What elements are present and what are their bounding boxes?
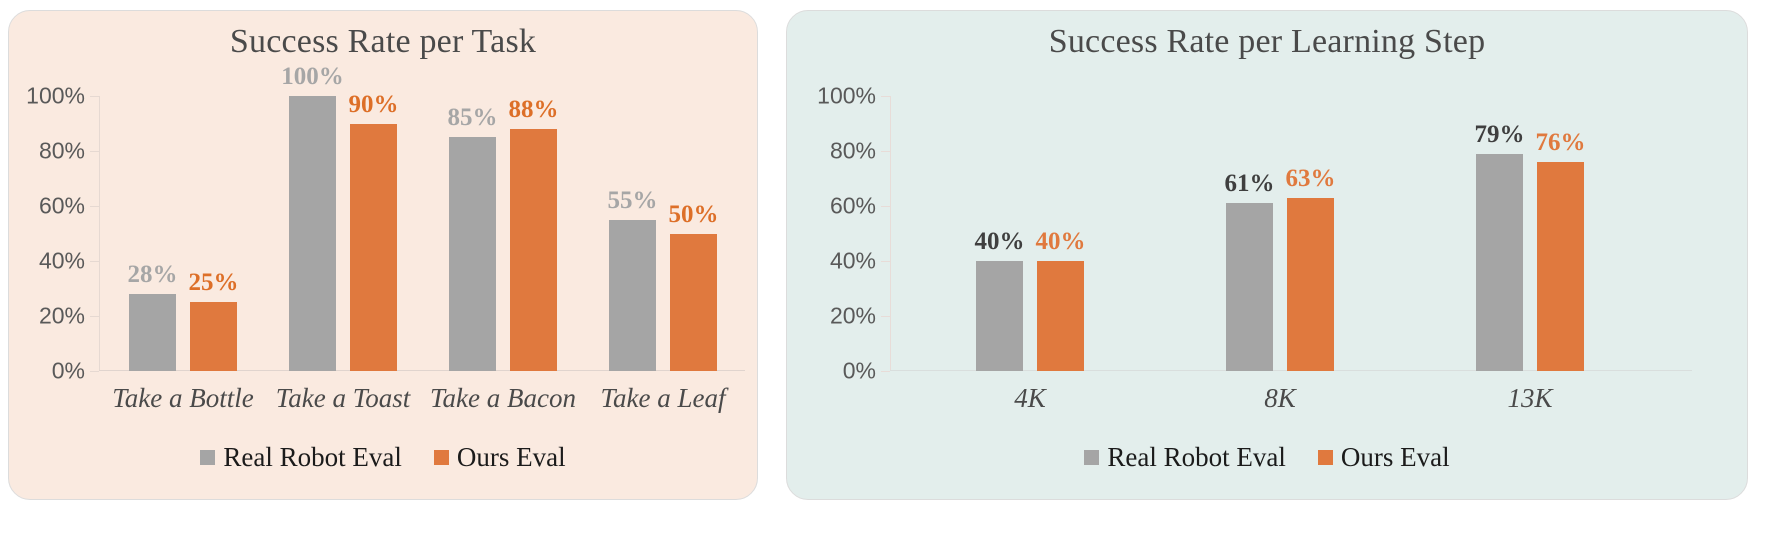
legend-label-real-robot-eval: Real Robot Eval: [223, 442, 401, 473]
figure-container: Success Rate per Task 100%80%60%40%20%0%…: [0, 0, 1774, 550]
bar-value-label: 100%: [281, 63, 344, 91]
y-axis-tick-label: 20%: [39, 303, 85, 330]
legend-label-ours-eval: Ours Eval: [457, 442, 566, 473]
bar-ours-eval: 88%: [510, 129, 557, 371]
bar-value-label: 85%: [448, 104, 498, 132]
y-axis-tick: [881, 261, 890, 262]
bar-ours-eval: 50%: [670, 234, 717, 372]
bar-value-label: 88%: [509, 96, 559, 124]
x-axis-category-label: Take a Bacon: [430, 383, 576, 414]
bar-value-label: 79%: [1475, 121, 1525, 149]
bar-real-robot-eval: 85%: [449, 137, 496, 371]
x-axis-category-label: Take a Bottle: [112, 383, 254, 414]
y-axis-tick: [90, 261, 99, 262]
bar-value-label: 76%: [1536, 129, 1586, 157]
y-axis-tick: [90, 206, 99, 207]
legend-label-real-robot-eval: Real Robot Eval: [1107, 442, 1285, 473]
y-axis-tick: [881, 371, 890, 372]
chart-panel-success-rate-per-task: Success Rate per Task 100%80%60%40%20%0%…: [8, 10, 758, 500]
y-axis-tick: [90, 316, 99, 317]
bar-value-label: 61%: [1225, 170, 1275, 198]
y-axis-tick-label: 80%: [830, 138, 876, 165]
bar-real-robot-eval: 28%: [129, 294, 176, 371]
x-axis-category-label: 4K: [1014, 383, 1046, 414]
bar-value-label: 40%: [975, 228, 1025, 256]
plot-area-right: 100%80%60%40%20%0% 40%40%61%63%79%76%: [890, 96, 1692, 371]
bar-real-robot-eval: 100%: [289, 96, 336, 371]
bar-ours-eval: 90%: [350, 124, 397, 372]
legend-item-real-robot-eval: Real Robot Eval: [200, 442, 401, 473]
bar-real-robot-eval: 61%: [1226, 203, 1273, 371]
bar-value-label: 55%: [608, 187, 658, 215]
legend-swatch-icon-orange: [1318, 450, 1333, 465]
bar-value-label: 28%: [128, 261, 178, 289]
y-axis-tick-label: 40%: [830, 248, 876, 275]
y-axis-tick-label: 100%: [817, 83, 876, 110]
y-axis-line-right: [890, 96, 891, 371]
y-axis-tick-label: 100%: [26, 83, 85, 110]
legend-item-real-robot-eval: Real Robot Eval: [1084, 442, 1285, 473]
y-axis-tick: [881, 316, 890, 317]
y-axis-tick-label: 60%: [830, 193, 876, 220]
legend-left: Real Robot Eval Ours Eval: [9, 442, 757, 473]
legend-item-ours-eval: Ours Eval: [434, 442, 566, 473]
chart-panel-success-rate-per-learning-step: Success Rate per Learning Step 100%80%60…: [786, 10, 1748, 500]
chart-title-right: Success Rate per Learning Step: [787, 23, 1747, 61]
y-axis-tick-label: 60%: [39, 193, 85, 220]
bar-ours-eval: 76%: [1537, 162, 1584, 371]
bar-value-label: 90%: [349, 91, 399, 119]
y-axis-tick-label: 0%: [52, 358, 85, 385]
bar-value-label: 63%: [1286, 165, 1336, 193]
y-axis-tick-label: 40%: [39, 248, 85, 275]
y-axis-tick-label: 80%: [39, 138, 85, 165]
legend-swatch-icon-gray: [200, 450, 215, 465]
bar-real-robot-eval: 40%: [976, 261, 1023, 371]
y-axis-tick: [881, 151, 890, 152]
x-axis-category-label: Take a Leaf: [600, 383, 725, 414]
y-axis-tick: [90, 371, 99, 372]
bar-ours-eval: 63%: [1287, 198, 1334, 371]
bar-value-label: 25%: [189, 269, 239, 297]
y-axis-line-left: [99, 96, 100, 371]
y-axis-tick-label: 20%: [830, 303, 876, 330]
x-axis-category-label: 8K: [1264, 383, 1296, 414]
x-axis-category-label: Take a Toast: [276, 383, 411, 414]
x-axis-category-label: 13K: [1507, 383, 1552, 414]
bar-real-robot-eval: 55%: [609, 220, 656, 371]
legend-item-ours-eval: Ours Eval: [1318, 442, 1450, 473]
legend-label-ours-eval: Ours Eval: [1341, 442, 1450, 473]
bar-real-robot-eval: 79%: [1476, 154, 1523, 371]
bar-value-label: 40%: [1036, 228, 1086, 256]
legend-right: Real Robot Eval Ours Eval: [787, 442, 1747, 473]
y-axis-tick: [881, 206, 890, 207]
legend-swatch-icon-gray: [1084, 450, 1099, 465]
bar-value-label: 50%: [669, 201, 719, 229]
y-axis-tick: [90, 96, 99, 97]
chart-title-left: Success Rate per Task: [9, 23, 757, 61]
plot-area-left: 100%80%60%40%20%0% 28%25%100%90%85%88%55…: [99, 96, 745, 371]
bar-ours-eval: 40%: [1037, 261, 1084, 371]
bar-ours-eval: 25%: [190, 302, 237, 371]
legend-swatch-icon-orange: [434, 450, 449, 465]
y-axis-tick-label: 0%: [843, 358, 876, 385]
y-axis-tick: [881, 96, 890, 97]
y-axis-tick: [90, 151, 99, 152]
